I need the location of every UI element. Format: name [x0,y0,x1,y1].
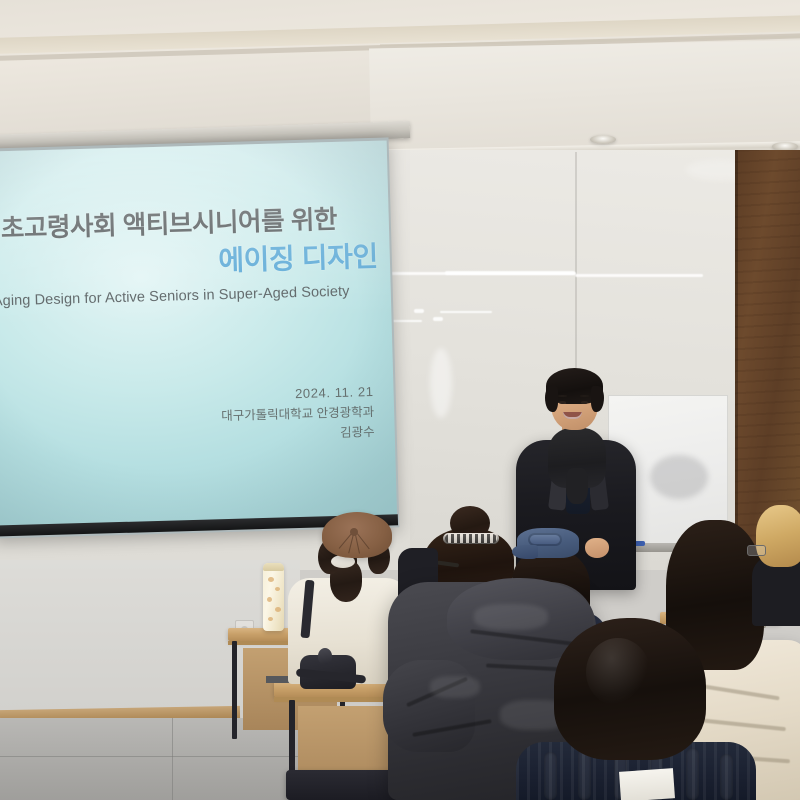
presenter-sideburn [545,386,558,412]
lecture-room-photo: 초고령사회 액티브시니어를 위한 에이징 디자인 Aging Design fo… [0,0,800,800]
knit-cable [720,754,733,800]
light-reflection [575,274,703,277]
slide-metadata: 2024. 11. 21 대구가톨릭대학교 안경광학과 김광수 [5,381,375,453]
bottle-pattern [275,587,280,591]
floor [0,718,300,800]
presentation-slide: 초고령사회 액티브시니어를 위한 에이징 디자인 Aging Design fo… [0,140,397,531]
knit-cable [544,752,557,800]
desk-leg [232,641,237,739]
presenter-eye [581,401,588,404]
puffer-sleeve [383,660,475,752]
bottle-pattern [268,617,273,621]
ceiling-panel [369,39,800,153]
eyeglasses [747,545,766,556]
floor-tile-line [0,756,300,757]
light-reflection [433,317,443,321]
light-reflection [440,311,492,313]
light-glow [430,348,452,418]
presenter-eyebrow [580,395,589,397]
slide-title-line1: 초고령사회 액티브시니어를 위한 [0,205,377,245]
downlight-icon [590,135,616,144]
bottle-pattern [268,577,274,582]
puffer-highlight [474,604,548,630]
wood-column-edge [735,150,738,570]
water-bottle [263,563,284,631]
hair [756,505,800,567]
hair-clip [443,533,499,544]
presenter-eye [559,401,566,404]
presenter-scarf-tail [566,468,588,504]
presenter-hand [585,538,609,558]
slide-title-line2: 에이징 디자인 [2,241,379,284]
knit-cable [686,748,699,800]
slide-vignette [0,140,397,531]
bottle-cap [263,563,284,571]
floor-tile-line [172,718,173,800]
presenter-eyebrow [558,395,567,397]
bag-charm [318,648,332,664]
paper-sheet [619,768,675,800]
light-reflection [445,271,575,275]
cap-brim [512,545,538,559]
projection-screen: 초고령사회 액티브시니어를 위한 에이징 디자인 Aging Design fo… [0,137,399,538]
puffer-highlight [430,676,480,698]
slide-subtitle: Aging Design for Active Seniors in Super… [0,283,379,310]
whiteboard-shadow [650,455,708,499]
light-reflection [414,309,424,313]
bottle-pattern [275,607,281,612]
hair-sheen [586,638,650,706]
bottle-pattern [267,597,272,602]
beret-knob [350,528,358,536]
